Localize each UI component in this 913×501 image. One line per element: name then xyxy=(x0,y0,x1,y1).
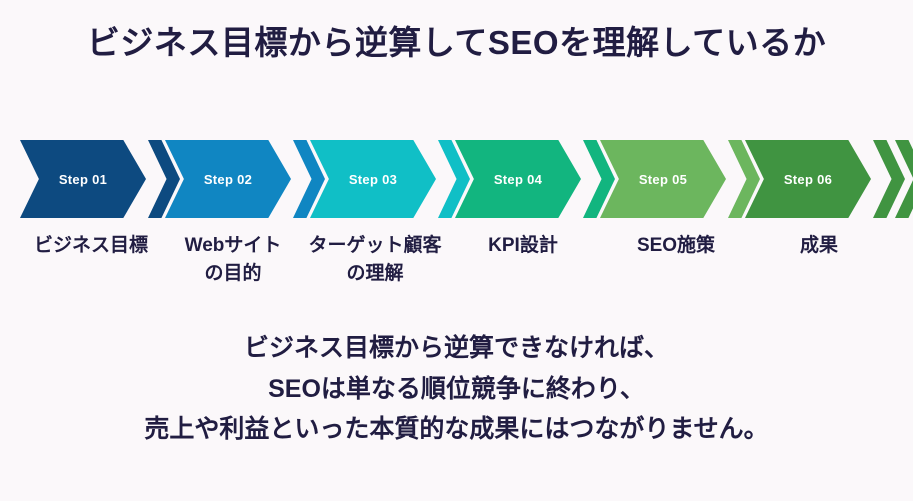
conclusion-line-1: ビジネス目標から逆算できなければ、 xyxy=(0,328,913,369)
step-5-chevron xyxy=(600,140,726,218)
conclusion-text: ビジネス目標から逆算できなければ、 SEOは単なる順位競争に終わり、 売上や利益… xyxy=(0,328,913,450)
conclusion-line-2: SEOは単なる順位競争に終わり、 xyxy=(0,369,913,410)
step-6-chevron xyxy=(745,140,871,218)
step-2-caption: Webサイト の目的 xyxy=(153,232,313,287)
step-1-caption: ビジネス目標 xyxy=(11,232,171,260)
step-4-chevron xyxy=(455,140,581,218)
step-5-caption: SEO施策 xyxy=(596,232,756,260)
page-title: ビジネス目標から逆算してSEOを理解しているか xyxy=(0,22,913,63)
step-2-chevron xyxy=(165,140,291,218)
step-5-caption-line1: SEO施策 xyxy=(596,232,756,260)
step-4-caption-line1: KPI設計 xyxy=(443,232,603,260)
step-6-arrow-1 xyxy=(873,140,905,218)
step-3-chevron xyxy=(310,140,436,218)
step-3-caption-line2: の理解 xyxy=(295,260,455,288)
slide-canvas: ビジネス目標から逆算してSEOを理解しているか Step 01 Step 02 … xyxy=(0,0,913,501)
step-6-caption: 成果 xyxy=(739,232,899,260)
step-1-caption-line1: ビジネス目標 xyxy=(11,232,171,260)
conclusion-line-3: 売上や利益といった本質的な成果にはつながりません。 xyxy=(0,409,913,450)
step-3-caption-line1: ターゲット顧客 xyxy=(295,232,455,260)
step-1-chevron xyxy=(20,140,146,218)
step-3-caption: ターゲット顧客 の理解 xyxy=(295,232,455,287)
step-2-caption-line2: の目的 xyxy=(153,260,313,288)
process-captions: ビジネス目標 Webサイト の目的 ターゲット顧客 の理解 KPI設計 SEO施… xyxy=(0,232,913,302)
step-4-caption: KPI設計 xyxy=(443,232,603,260)
step-6-caption-line1: 成果 xyxy=(739,232,899,260)
step-2-caption-line1: Webサイト xyxy=(153,232,313,260)
process-flow: Step 01 Step 02 Step 03 Step 04 xyxy=(0,140,913,220)
